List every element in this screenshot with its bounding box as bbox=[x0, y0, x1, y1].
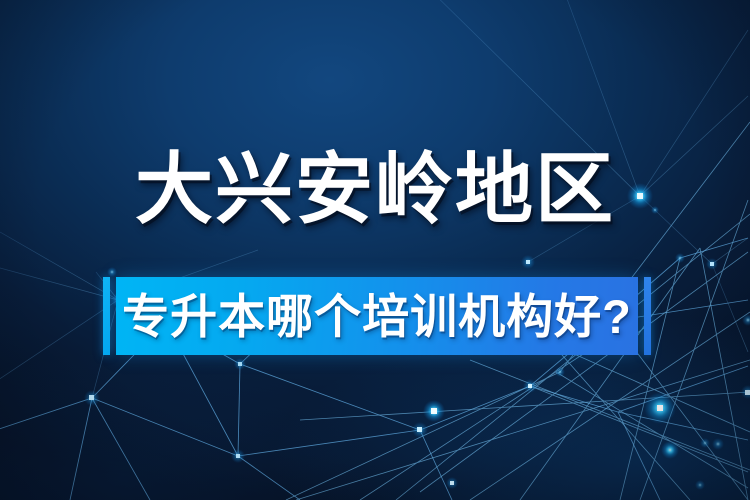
subtitle-bar-row: 专升本哪个培训机构好? bbox=[103, 277, 651, 355]
accent-tick-right bbox=[644, 277, 651, 355]
headline-container: 大兴安岭地区 bbox=[0, 150, 750, 228]
page-title: 大兴安岭地区 bbox=[135, 150, 615, 228]
subtitle-bar: 专升本哪个培训机构好? bbox=[116, 277, 638, 355]
promo-banner: 大兴安岭地区 专升本哪个培训机构好? bbox=[0, 0, 750, 500]
background-vignette bbox=[0, 0, 750, 500]
accent-tick-left bbox=[103, 277, 110, 355]
subtitle-text: 专升本哪个培训机构好? bbox=[122, 293, 632, 340]
